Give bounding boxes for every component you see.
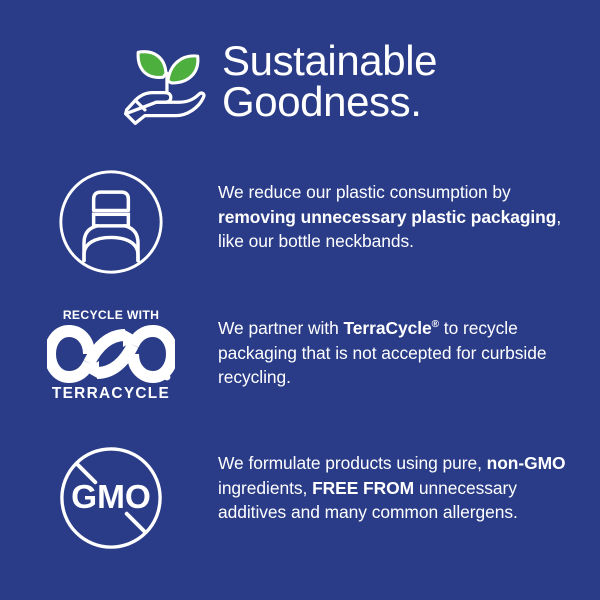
feature-text-cell: We reduce our plastic consumption by rem… — [218, 168, 600, 254]
feature-row-gmo: GMO We formulate products using pure, no… — [0, 443, 600, 558]
no-gmo-icon: GMO — [56, 443, 166, 558]
feature-row-plastic: We reduce our plastic consumption by rem… — [0, 168, 600, 281]
feature-row-terracycle: RECYCLE WITH TERRAC — [0, 306, 600, 403]
page-header: Sustainable Goodness. — [0, 26, 600, 136]
terracycle-bottom-label: TERRACYCLE — [52, 385, 170, 403]
hand-holding-plant-icon — [118, 35, 214, 131]
plastic-bottle-in-circle-icon — [57, 168, 165, 281]
page-title: Sustainable Goodness. — [222, 40, 437, 122]
feature-text-terracycle: We partner with TerraCycle® to recycle p… — [218, 316, 586, 390]
terracycle-logo: RECYCLE WITH TERRAC — [46, 308, 176, 403]
feature-icon-cell — [0, 168, 218, 281]
feature-text-cell: We formulate products using pure, non-GM… — [218, 443, 600, 525]
terracycle-top-label: RECYCLE WITH — [63, 308, 159, 322]
gmo-label: GMO — [71, 479, 151, 516]
feature-text-cell: We partner with TerraCycle® to recycle p… — [218, 306, 600, 390]
feature-icon-cell: RECYCLE WITH TERRAC — [0, 306, 218, 403]
feature-text-plastic: We reduce our plastic consumption by rem… — [218, 180, 586, 254]
terracycle-infinity-loop-icon — [47, 325, 175, 383]
feature-text-gmo: We formulate products using pure, non-GM… — [218, 451, 586, 525]
feature-icon-cell: GMO — [0, 443, 218, 558]
